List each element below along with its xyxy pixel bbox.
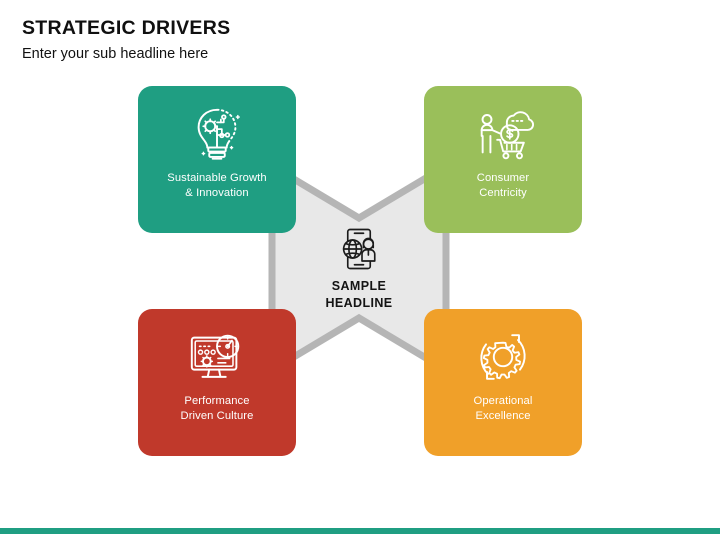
bottom-accent-bar <box>0 528 720 534</box>
gear-refresh-cycle-icon <box>472 326 534 388</box>
card-label: Operational Excellence <box>474 394 533 424</box>
lightbulb-gear-circuit-icon <box>186 103 248 165</box>
card-sustainable-growth-innovation[interactable]: Sustainable Growth & Innovation <box>138 86 296 233</box>
card-operational-excellence[interactable]: Operational Excellence <box>424 309 582 456</box>
shopper-cart-dollar-cloud-icon <box>472 103 534 165</box>
slide-canvas: STRATEGIC DRIVERS Enter your sub headlin… <box>0 0 720 540</box>
card-label: Consumer Centricity <box>477 171 529 201</box>
card-consumer-centricity[interactable]: Consumer Centricity <box>424 86 582 233</box>
strategic-drivers-diagram: SAMPLE HEADLINE <box>0 0 720 540</box>
card-label: Performance Driven Culture <box>181 394 254 424</box>
card-performance-driven-culture[interactable]: Performance Driven Culture <box>138 309 296 456</box>
card-label: Sustainable Growth & Innovation <box>167 171 266 201</box>
monitor-gauge-gear-icon <box>186 326 248 388</box>
